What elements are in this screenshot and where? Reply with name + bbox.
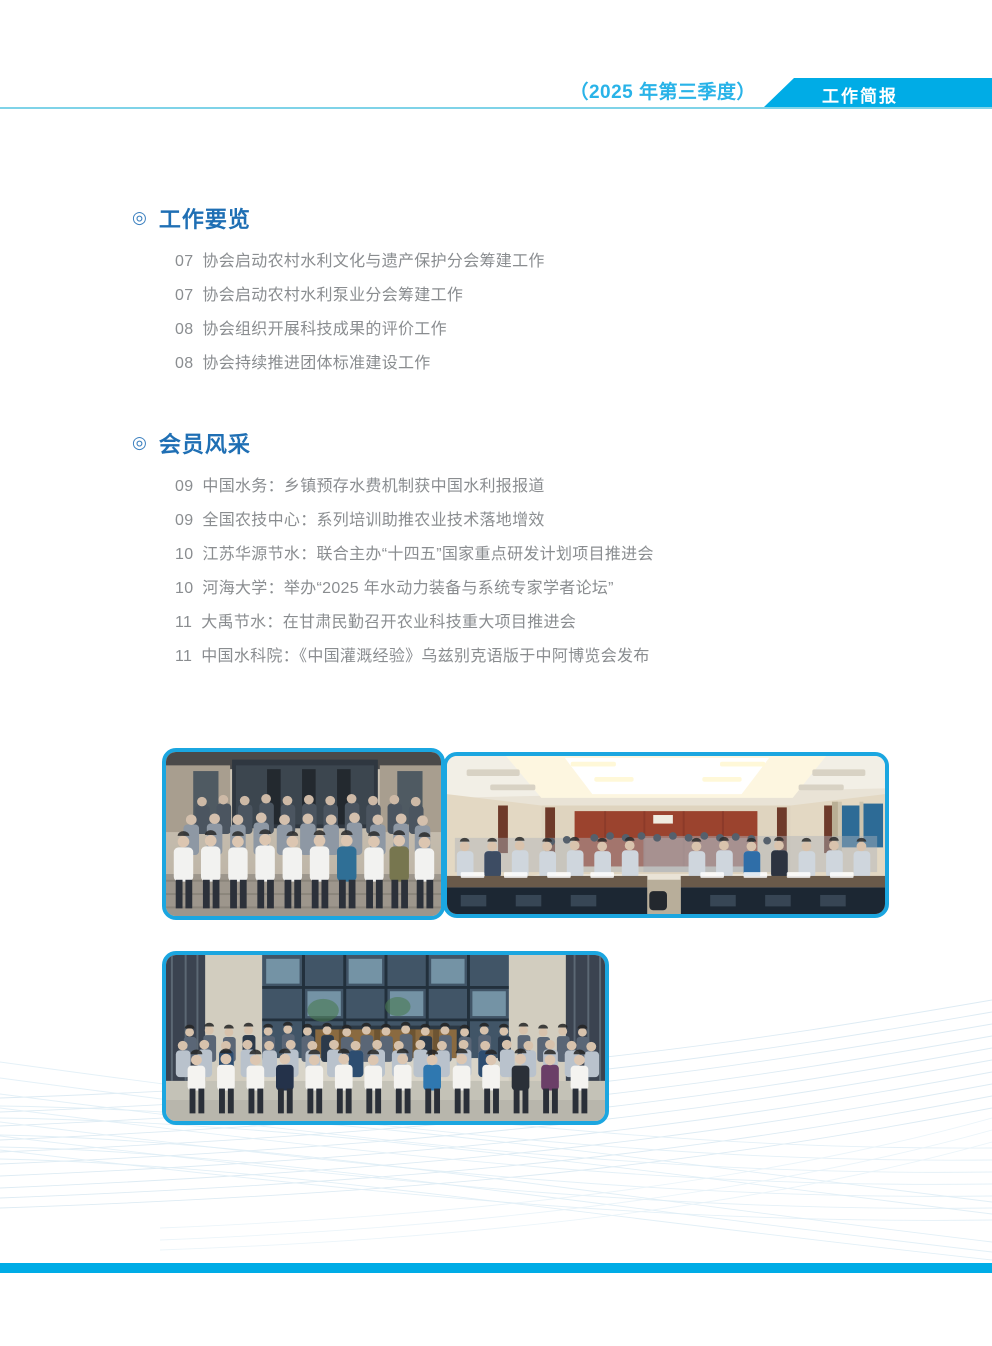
header-quarter-label: （2025 年第三季度） bbox=[569, 77, 756, 104]
toc-item[interactable]: 10 河海大学：举办“2025 年水动力装备与系统专家学者论坛” bbox=[175, 574, 654, 608]
header-title-label: 工作简报 bbox=[822, 82, 898, 107]
section-title: 会员风采 bbox=[159, 427, 251, 459]
toc-item[interactable]: 07 协会启动农村水利文化与遗产保护分会筹建工作 bbox=[175, 247, 545, 281]
toc-page-number: 08 bbox=[175, 321, 193, 339]
header-title-tab: 工作简报 bbox=[764, 78, 992, 107]
toc-page-number: 11 bbox=[175, 648, 192, 666]
section-work-overview: ◎ 工作要览 07 协会启动农村水利文化与遗产保护分会筹建工作 07 协会启动农… bbox=[132, 203, 545, 383]
toc-entry-title: 中国水务：乡镇预存水费机制获中国水利报报道 bbox=[202, 472, 544, 496]
section-member-highlights: ◎ 会员风采 09 中国水务：乡镇预存水费机制获中国水利报报道 09 全国农技中… bbox=[132, 428, 654, 676]
toc-entry-title: 江苏华源节水：联合主办“十四五”国家重点研发计划项目推进会 bbox=[202, 540, 653, 564]
toc-page-number: 11 bbox=[175, 614, 192, 632]
footer-accent-bar bbox=[0, 1263, 992, 1273]
conference-room-photo bbox=[443, 752, 889, 918]
toc-page-number: 10 bbox=[175, 546, 193, 564]
toc-item[interactable]: 11 中国水科院：《中国灌溉经验》乌兹别克语版于中阿博览会发布 bbox=[175, 642, 654, 676]
group-photo-entrance bbox=[162, 748, 445, 920]
toc-item[interactable]: 10 江苏华源节水：联合主办“十四五”国家重点研发计划项目推进会 bbox=[175, 540, 654, 574]
toc-item[interactable]: 08 协会组织开展科技成果的评价工作 bbox=[175, 315, 545, 349]
toc-list-member-highlights: 09 中国水务：乡镇预存水费机制获中国水利报报道 09 全国农技中心：系列培训助… bbox=[175, 472, 654, 676]
toc-entry-title: 协会启动农村水利泵业分会筹建工作 bbox=[202, 281, 463, 305]
toc-entry-title: 大禹节水：在甘肃民勤召开农业科技重大项目推进会 bbox=[201, 608, 576, 632]
toc-page-number: 10 bbox=[175, 580, 193, 598]
toc-page-number: 07 bbox=[175, 287, 193, 305]
double-circle-icon: ◎ bbox=[132, 209, 147, 226]
toc-page-number: 07 bbox=[175, 253, 193, 271]
toc-entry-title: 协会启动农村水利文化与遗产保护分会筹建工作 bbox=[202, 247, 544, 271]
header-divider-rule bbox=[0, 107, 992, 109]
large-group-photo-building bbox=[162, 951, 609, 1125]
toc-page-number: 09 bbox=[175, 512, 193, 530]
toc-entry-title: 全国农技中心：系列培训助推农业技术落地增效 bbox=[202, 506, 544, 530]
section-title: 工作要览 bbox=[159, 202, 251, 234]
toc-entry-title: 河海大学：举办“2025 年水动力装备与系统专家学者论坛” bbox=[202, 574, 613, 598]
toc-item[interactable]: 08 协会持续推进团体标准建设工作 bbox=[175, 349, 545, 383]
toc-entry-title: 协会持续推进团体标准建设工作 bbox=[202, 349, 430, 373]
section-heading: ◎ 工作要览 bbox=[132, 203, 545, 233]
toc-item[interactable]: 09 全国农技中心：系列培训助推农业技术落地增效 bbox=[175, 506, 654, 540]
toc-entry-title: 协会组织开展科技成果的评价工作 bbox=[202, 315, 447, 339]
toc-page-number: 08 bbox=[175, 355, 193, 373]
page-header: （2025 年第三季度） 工作简报 bbox=[0, 0, 992, 112]
section-heading: ◎ 会员风采 bbox=[132, 428, 654, 458]
toc-entry-title: 中国水科院：《中国灌溉经验》乌兹别克语版于中阿博览会发布 bbox=[201, 642, 649, 666]
double-circle-icon: ◎ bbox=[132, 434, 147, 451]
toc-item[interactable]: 09 中国水务：乡镇预存水费机制获中国水利报报道 bbox=[175, 472, 654, 506]
toc-item[interactable]: 07 协会启动农村水利泵业分会筹建工作 bbox=[175, 281, 545, 315]
toc-list-work-overview: 07 协会启动农村水利文化与遗产保护分会筹建工作 07 协会启动农村水利泵业分会… bbox=[175, 247, 545, 383]
toc-page-number: 09 bbox=[175, 478, 193, 496]
toc-item[interactable]: 11 大禹节水：在甘肃民勤召开农业科技重大项目推进会 bbox=[175, 608, 654, 642]
